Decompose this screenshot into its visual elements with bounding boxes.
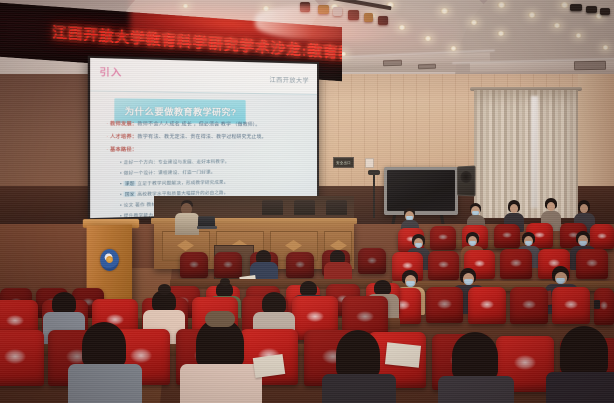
body bbox=[546, 372, 614, 403]
conference-hall-photo: 江西开放大学教育科学研究学术沙龙:教育教学课题申报指导 引入 江西开放大学 为什… bbox=[0, 0, 614, 403]
downlight bbox=[528, 12, 536, 18]
ceiling-vent bbox=[574, 61, 606, 71]
downlight bbox=[602, 45, 609, 50]
stage-light bbox=[570, 4, 582, 11]
slide-subbullet: ▪ 做好一个设计：课程建设、打造一门好课。 bbox=[120, 169, 215, 176]
hair bbox=[374, 280, 391, 295]
projection-screen-surface: 引入 江西开放大学 为什么要做教育教学研究? · 教师发展：教师不会人人成名 成… bbox=[90, 58, 317, 218]
downlight bbox=[497, 2, 506, 8]
smartphone[interactable] bbox=[594, 300, 600, 309]
stage-light bbox=[600, 8, 610, 15]
stage-chair bbox=[326, 200, 347, 215]
table-diamond-inlay bbox=[177, 240, 194, 251]
hair bbox=[82, 322, 126, 368]
presenter-body bbox=[175, 213, 199, 235]
university-crest-icon bbox=[100, 249, 119, 271]
downlight bbox=[497, 31, 505, 36]
exit-sign: 安全出口 bbox=[333, 157, 354, 168]
speaker-cone bbox=[461, 171, 472, 183]
hair bbox=[262, 292, 286, 314]
exit-sign-text: 安全出口 bbox=[336, 160, 351, 165]
seat[interactable] bbox=[494, 224, 520, 248]
seat[interactable] bbox=[428, 251, 459, 280]
flat-panel-display[interactable] bbox=[384, 167, 458, 215]
seat[interactable] bbox=[500, 249, 532, 279]
head bbox=[580, 204, 588, 213]
handout-paper bbox=[385, 342, 421, 367]
body bbox=[438, 376, 514, 403]
body bbox=[68, 364, 142, 403]
hair bbox=[300, 281, 317, 296]
slide-bullet: · 教师发展：教师不会人人成名 成长 ，但必须会 教学 （做教师）。 bbox=[106, 121, 260, 128]
stage-chair bbox=[262, 200, 283, 215]
hair-bun bbox=[158, 284, 171, 295]
seat[interactable] bbox=[510, 287, 548, 324]
slide-bullet: · 人才培养：教学有法、教无定法、贵在得法、教学过程研究无止境。 bbox=[106, 134, 266, 140]
seat[interactable] bbox=[214, 252, 242, 278]
hair-bun bbox=[220, 278, 230, 286]
slide-subbullet: ▪ 课题 立足于教学问题解决，形成教学研究成果。 bbox=[120, 179, 228, 187]
mic-stand-head bbox=[368, 170, 380, 175]
slide-header: 引入 江西开放大学 bbox=[90, 58, 317, 95]
seat[interactable] bbox=[0, 330, 44, 386]
slide-subbullet: ▪ 走好一个方向：专业建设与发展、走好本科教学。 bbox=[120, 159, 229, 166]
seat[interactable] bbox=[426, 287, 463, 323]
mic-stand bbox=[373, 172, 375, 218]
slide-section-label: 引入 bbox=[99, 65, 122, 79]
seat[interactable] bbox=[552, 287, 590, 324]
downlight bbox=[575, 33, 582, 38]
window-curtains bbox=[474, 90, 578, 218]
hair bbox=[560, 326, 608, 376]
slide-title-text: 为什么要做教育教学研究? bbox=[125, 106, 237, 118]
curtain-light-gap bbox=[531, 96, 538, 208]
hair-accessory bbox=[205, 311, 235, 327]
hair bbox=[336, 330, 380, 378]
slide-title: 为什么要做教育教学研究? bbox=[114, 98, 246, 123]
seat[interactable] bbox=[358, 248, 386, 274]
body bbox=[322, 374, 396, 403]
seat[interactable] bbox=[590, 224, 614, 249]
slide-brand-text: 江西开放大学 bbox=[269, 75, 309, 85]
table-diamond-inlay bbox=[285, 240, 302, 251]
name-card bbox=[253, 354, 285, 378]
downlight bbox=[553, 23, 561, 28]
wall-switch[interactable] bbox=[365, 158, 374, 168]
wall-mounted-loudspeaker bbox=[457, 166, 476, 197]
seat[interactable] bbox=[430, 226, 456, 250]
hair bbox=[52, 292, 76, 314]
hair bbox=[452, 332, 498, 380]
led-banner-reflection bbox=[254, 5, 406, 42]
seat[interactable] bbox=[180, 252, 208, 278]
stage-chair bbox=[294, 200, 315, 215]
seat[interactable] bbox=[576, 249, 608, 279]
head bbox=[510, 204, 518, 213]
body bbox=[180, 364, 262, 403]
seat[interactable] bbox=[468, 287, 506, 324]
downlight bbox=[470, 20, 478, 25]
downlight bbox=[560, 2, 569, 8]
head bbox=[547, 202, 555, 211]
tv-screen bbox=[387, 170, 455, 211]
slide-bullet: · 基本路径： bbox=[106, 147, 137, 154]
seat[interactable] bbox=[286, 252, 314, 278]
stage-light bbox=[586, 6, 597, 13]
presenter-laptop-base bbox=[197, 226, 217, 229]
